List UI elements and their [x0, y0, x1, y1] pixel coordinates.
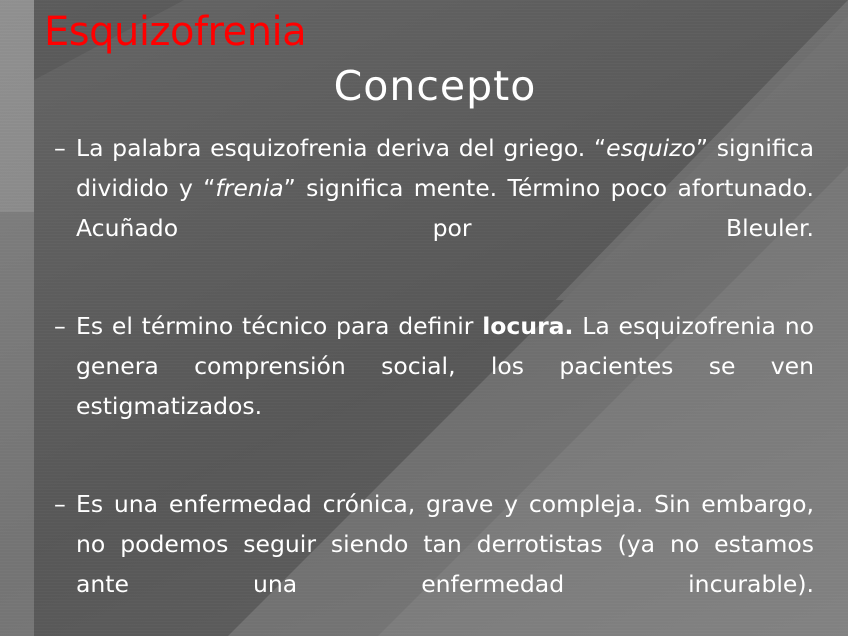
bullet-marker-icon: –	[54, 128, 76, 168]
slide-title: Concepto	[0, 62, 848, 110]
bullet-text: La palabra esquizofrenia deriva del grie…	[76, 128, 814, 288]
list-item: – Es una enfermedad crónica, grave y com…	[54, 484, 814, 636]
presentation-slide: Esquizofrenia Concepto – La palabra esqu…	[0, 0, 848, 636]
bullet-text: Es el término técnico para definir locur…	[76, 306, 814, 466]
bullet-marker-icon: –	[54, 306, 76, 346]
bullet-list: – La palabra esquizofrenia deriva del gr…	[54, 128, 814, 636]
bullet-text: Es una enfermedad crónica, grave y compl…	[76, 484, 814, 636]
bullet-marker-icon: –	[54, 484, 76, 524]
slide-content: Esquizofrenia Concepto – La palabra esqu…	[0, 0, 848, 636]
deck-title: Esquizofrenia	[44, 12, 306, 52]
list-item: – Es el término técnico para definir loc…	[54, 306, 814, 466]
list-item: – La palabra esquizofrenia deriva del gr…	[54, 128, 814, 288]
